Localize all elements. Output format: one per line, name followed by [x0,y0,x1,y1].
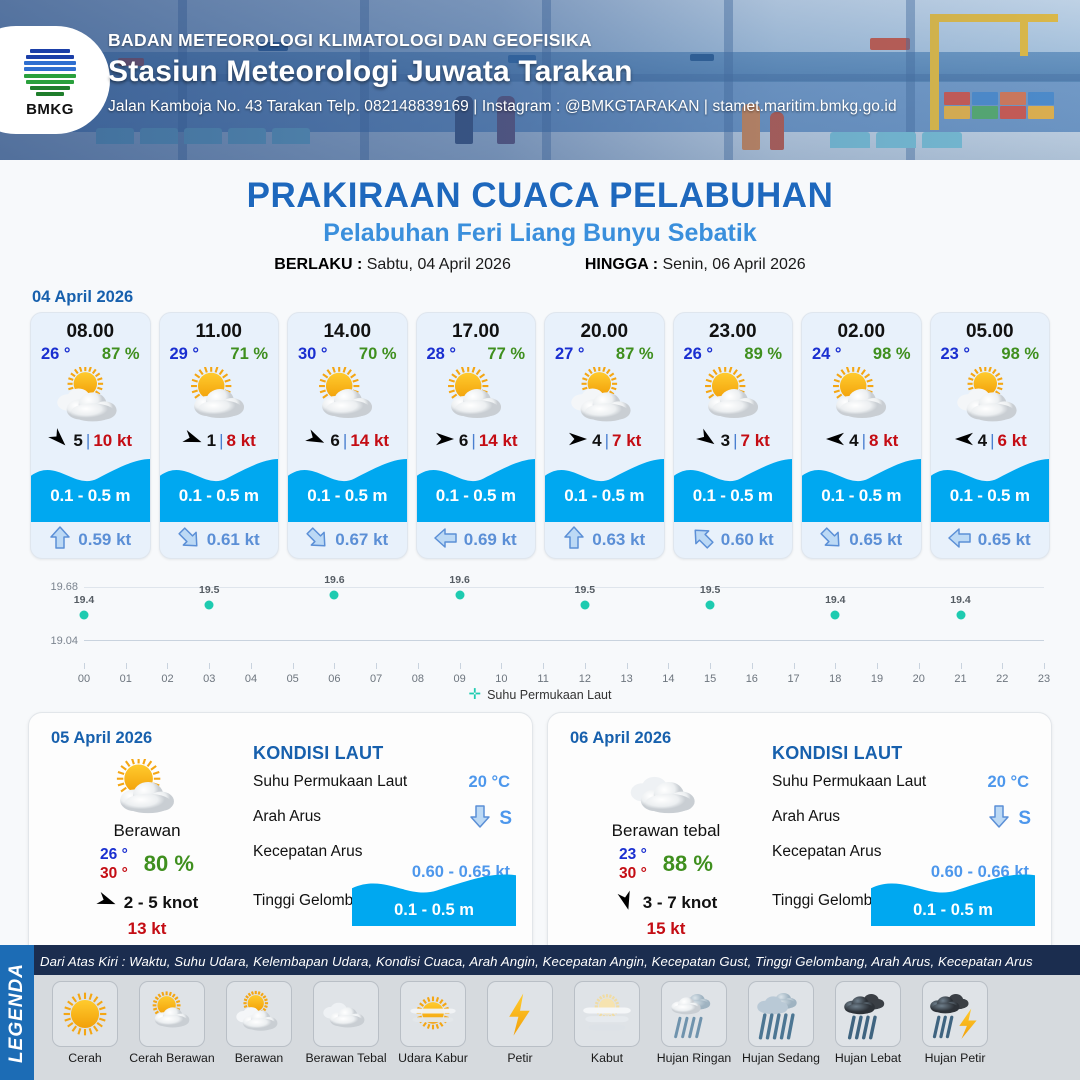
panel-wind: 2 - 5 knot [47,892,247,915]
title-block: PRAKIRAAN CUACA PELABUHAN Pelabuhan Feri… [0,176,1080,274]
chart-x-label: 07 [370,673,382,685]
card-temp-hum: 27 ° 87 % [545,343,664,364]
chart-point [330,591,339,600]
card-temperature: 30 ° [298,345,328,364]
card-current-speed: 0.63 kt [592,530,645,550]
card-wind-degree: 1 [207,431,216,451]
chart-x-tick [668,663,669,669]
chart-point [80,611,89,620]
panel-temp-max: 30 ° [100,864,128,883]
partly-cloudy-icon [545,364,664,426]
card-current-speed: 0.65 kt [849,530,902,550]
card-gust: 14 kt [479,431,518,451]
legend-item: Cerah Berawan [129,981,215,1065]
panel-gust: 13 kt [47,919,247,939]
legend-item-label: Cerah Berawan [129,1051,215,1065]
sun-icon [52,981,118,1047]
panel-current-dir-value-group: S [988,804,1031,833]
panel-wave-value: 0.1 - 0.5 m [352,901,516,920]
card-temperature: 23 ° [941,345,971,364]
legend-item: Hujan Ringan [651,981,737,1065]
card-gust: 10 kt [93,431,132,451]
wind-direction-arrow-icon [953,430,975,453]
valid-from-label: BERLAKU : [274,256,362,273]
chart-x-tick [752,663,753,669]
legend-item-label: Hujan Ringan [651,1051,737,1065]
wind-direction-arrow-icon [305,430,327,453]
card-wave-height: 0.1 - 0.5 m [31,486,150,506]
card-time: 23.00 [674,313,793,343]
card-temperature: 26 ° [684,345,714,364]
chart-x-label: 10 [495,673,507,685]
card-temp-hum: 26 ° 87 % [31,343,150,364]
chart-x-tick [835,663,836,669]
chart-x-tick [460,663,461,669]
card-temp-hum: 30 ° 70 % [288,343,407,364]
panel-wave-row: Tinggi Gelombang 0.1 - 0.5 m [772,892,1035,922]
sun-cloud-icon [674,364,793,426]
sun-cloud-icon [802,364,921,426]
panel-current-dir-row: Arah Arus S [253,808,516,834]
chart-point-label: 19.5 [199,584,219,596]
card-wave-height: 0.1 - 0.5 m [931,486,1050,506]
chart-x-label: 02 [161,673,173,685]
card-wave-graphic: 0.1 - 0.5 m [674,456,793,522]
card-wind: 6 | 14 kt [288,426,407,456]
panel-temps: 26 ° 30 ° 80 % [47,845,247,884]
card-wave-graphic: 0.1 - 0.5 m [545,456,664,522]
haze-icon [400,981,466,1047]
panel-temp-range: 23 ° 30 ° [619,845,647,884]
card-wind: 4 | 8 kt [802,426,921,456]
panel-wave-value: 0.1 - 0.5 m [871,901,1035,920]
chart-x-tick [877,663,878,669]
sun-cloud-icon [417,364,536,426]
panel-condition: Berawan tebal [566,821,766,841]
chart-x-label: 04 [245,673,257,685]
chart-legend-label: Suhu Permukaan Laut [487,688,611,702]
chart-x-label: 11 [537,673,548,685]
organization-name: BADAN METEOROLOGI KLIMATOLOGI DAN GEOFIS… [108,30,897,51]
card-gust: 14 kt [350,431,389,451]
card-wind-degree: 6 [459,431,468,451]
chart-x-label: 23 [1038,673,1050,685]
chart-x-label: 20 [913,673,925,685]
chart-x-tick [84,663,85,669]
legend-item-label: Cerah [42,1051,128,1065]
sst-chart: 19.68 19.04 19.419.519.619.619.519.519.4… [26,573,1054,685]
chart-x-label: 14 [662,673,674,685]
daily-forecast-panel[interactable]: 05 April 2026 Berawan 26 ° 30 ° 80 % 2 - [28,712,533,960]
panel-temp-min: 26 ° [100,845,128,864]
card-humidity: 87 % [102,345,140,364]
chart-x-tick [209,663,210,669]
wind-direction-arrow-icon [96,892,118,915]
card-wave-graphic: 0.1 - 0.5 m [288,456,407,522]
legend-item: Hujan Lebat [825,981,911,1065]
forecast-card[interactable]: 02.00 24 ° 98 % 4 | 8 kt 0.1 - 0.5 m [801,312,922,559]
chart-point-label: 19.5 [575,584,595,596]
panel-wave-chip: 0.1 - 0.5 m [352,872,516,926]
chart-point-label: 19.4 [825,594,845,606]
chart-x-tick [293,663,294,669]
panel-temp-range: 26 ° 30 ° [100,845,128,884]
card-wind-separator: | [990,431,994,451]
chart-x-tick [710,663,711,669]
current-direction-arrow-icon [988,804,1010,833]
card-wind-degree: 6 [330,431,339,451]
card-wave-graphic: 0.1 - 0.5 m [417,456,536,522]
card-humidity: 87 % [616,345,654,364]
panel-sst-row: Suhu Permukaan Laut 20 °C [253,773,516,799]
panel-temp-min: 23 ° [619,845,647,864]
forecast-card[interactable]: 08.00 26 ° 87 % 5 | 10 kt 0.1 - [30,312,151,559]
card-wind-degree: 3 [721,431,730,451]
chart-x-label: 18 [829,673,841,685]
page-title: PRAKIRAAN CUACA PELABUHAN [0,176,1080,216]
card-wave-graphic: 0.1 - 0.5 m [31,456,150,522]
valid-from-value: Sabtu, 04 April 2026 [367,256,511,273]
card-gust: 6 kt [998,431,1027,451]
chart-point [205,601,214,610]
panel-current-speed-label: Kecepatan Arus [253,843,362,860]
panel-date: 06 April 2026 [570,729,671,748]
chart-x-label: 08 [412,673,424,685]
chart-x-tick [251,663,252,669]
card-current-speed: 0.65 kt [978,530,1031,550]
chart-x-label: 05 [287,673,299,685]
legend-item: Hujan Petir [912,981,998,1065]
chart-x-label: 15 [704,673,716,685]
chart-point-label: 19.4 [74,594,94,606]
card-wave-height: 0.1 - 0.5 m [545,486,664,506]
card-current-speed: 0.69 kt [464,530,517,550]
card-current: 0.60 kt [674,522,793,558]
panel-temps: 23 ° 30 ° 88 % [566,845,766,884]
card-temp-hum: 23 ° 98 % [931,343,1050,364]
card-gust: 8 kt [227,431,256,451]
card-time: 11.00 [160,313,279,343]
chart-x-label: 17 [787,673,799,685]
valid-until-label: HINGGA : [585,256,658,273]
legend-icon-strip: Cerah Cerah Berawan Berawan [34,975,1080,1080]
card-wind-degree: 5 [73,431,82,451]
chart-point-label: 19.6 [449,574,469,586]
card-time: 08.00 [31,313,150,343]
card-wind-degree: 4 [592,431,601,451]
cloud-icon [313,981,379,1047]
legend-side-label: LEGENDA [6,963,28,1063]
legend-item-label: Petir [477,1051,563,1065]
chart-x-tick [418,663,419,669]
wind-direction-arrow-icon [615,892,637,915]
card-time: 17.00 [417,313,536,343]
panel-sea-conditions: KONDISI LAUT Suhu Permukaan Laut 20 °C A… [253,743,516,922]
legend-item: Berawan [216,981,302,1065]
sun-cloud-icon [139,981,205,1047]
wind-direction-arrow-icon [48,430,70,453]
card-wind-separator: | [471,431,475,451]
thunderstorm-icon [922,981,988,1047]
card-wind: 4 | 6 kt [931,426,1050,456]
panel-condition: Berawan [47,821,247,841]
chart-x-label: 06 [328,673,340,685]
bmkg-logo-text: BMKG [26,101,74,118]
panel-temp-max: 30 ° [619,864,647,883]
panel-humidity: 80 % [144,851,194,877]
card-temp-hum: 28 ° 77 % [417,343,536,364]
chart-x-tick [961,663,962,669]
card-temperature: 24 ° [812,345,842,364]
current-direction-arrow-icon [178,526,200,555]
card-wind-separator: | [733,431,737,451]
card-wave-height: 0.1 - 0.5 m [674,486,793,506]
forecast-card[interactable]: 20.00 27 ° 87 % 4 | 7 kt 0.1 - [544,312,665,559]
wind-direction-arrow-icon [434,430,456,453]
chart-x-label: 12 [579,673,591,685]
card-wind-degree: 4 [978,431,987,451]
chart-x-label: 13 [620,673,632,685]
card-wave-height: 0.1 - 0.5 m [802,486,921,506]
legend-item: Udara Kabur [390,981,476,1065]
card-time: 02.00 [802,313,921,343]
chart-x-tick [585,663,586,669]
header-banner: BMKG BADAN METEOROLOGI KLIMATOLOGI DAN G… [0,0,1080,160]
chart-point-label: 19.4 [950,594,970,606]
card-gust: 7 kt [741,431,770,451]
bmkg-logo: BMKG [0,26,110,134]
chart-point [831,611,840,620]
panel-sst-value: 20 °C [469,773,510,792]
card-temp-hum: 24 ° 98 % [802,343,921,364]
legend-item-label: Berawan Tebal [303,1051,389,1065]
panel-wind-value: 3 - 7 knot [643,893,718,913]
forecast-card[interactable]: 17.00 28 ° 77 % 6 | 14 kt 0.1 - 0.5 m [416,312,537,559]
card-temperature: 26 ° [41,345,71,364]
chart-legend-marker-icon: ✛ [469,687,482,702]
card-wind-separator: | [862,431,866,451]
card-temperature: 27 ° [555,345,585,364]
current-direction-arrow-icon [949,526,971,555]
card-wave-graphic: 0.1 - 0.5 m [160,456,279,522]
validity-row: BERLAKU : Sabtu, 04 April 2026 HINGGA : … [0,256,1080,274]
card-time: 14.00 [288,313,407,343]
card-current-speed: 0.59 kt [78,530,131,550]
wind-direction-arrow-icon [696,430,718,453]
card-wind: 6 | 14 kt [417,426,536,456]
card-wind-separator: | [219,431,223,451]
panel-current-dir-value: S [499,808,512,830]
card-time: 20.00 [545,313,664,343]
card-wind: 4 | 7 kt [545,426,664,456]
current-direction-arrow-icon [820,526,842,555]
card-temperature: 28 ° [427,345,457,364]
contact-address: Jalan Kamboja No. 43 Tarakan Telp. 08214… [108,98,897,116]
chart-x-label: 19 [871,673,883,685]
card-wave-height: 0.1 - 0.5 m [288,486,407,506]
partly-cloudy-icon [226,981,292,1047]
legend-section: LEGENDA Dari Atas Kiri : Waktu, Suhu Uda… [0,945,1080,1080]
legend-item-label: Hujan Lebat [825,1051,911,1065]
chart-x-tick [501,663,502,669]
panel-sst-label: Suhu Permukaan Laut [772,773,926,790]
panel-wind-value: 2 - 5 knot [124,893,199,913]
panel-sea-conditions: KONDISI LAUT Suhu Permukaan Laut 20 °C A… [772,743,1035,922]
chart-x-tick [919,663,920,669]
card-wave-height: 0.1 - 0.5 m [160,486,279,506]
legend-side-tab: LEGENDA [0,945,34,1080]
card-wave-height: 0.1 - 0.5 m [417,486,536,506]
panel-left: Berawan tebal 23 ° 30 ° 88 % 3 - 7 knot … [566,757,766,939]
card-humidity: 98 % [873,345,911,364]
panel-sst-row: Suhu Permukaan Laut 20 °C [772,773,1035,799]
sun-cloud-icon [47,757,247,819]
card-wind: 3 | 7 kt [674,426,793,456]
station-name: Stasiun Meteorologi Juwata Tarakan [108,55,897,89]
partly-cloudy-icon [931,364,1050,426]
heavy-rain-icon [835,981,901,1047]
chart-x-label: 16 [746,673,758,685]
panel-current-dir-label: Arah Arus [772,808,840,825]
card-current: 0.67 kt [288,522,407,558]
card-gust: 8 kt [869,431,898,451]
current-direction-arrow-icon [692,526,714,555]
card-wave-graphic: 0.1 - 0.5 m [802,456,921,522]
chart-x-label: 03 [203,673,215,685]
legend-item-label: Hujan Petir [912,1051,998,1065]
card-time: 05.00 [931,313,1050,343]
chart-point-label: 19.6 [324,574,344,586]
panel-wind: 3 - 7 knot [566,892,766,915]
panel-current-speed-label: Kecepatan Arus [772,843,881,860]
daily-panel-row: 05 April 2026 Berawan 26 ° 30 ° 80 % 2 - [0,702,1080,960]
lightning-icon [487,981,553,1047]
chart-point [706,601,715,610]
panel-current-dir-row: Arah Arus S [772,808,1035,834]
page-subtitle: Pelabuhan Feri Liang Bunyu Sebatik [0,219,1080,248]
card-temperature: 29 ° [170,345,200,364]
card-temp-hum: 29 ° 71 % [160,343,279,364]
legend-item: Berawan Tebal [303,981,389,1065]
chart-x-tick [376,663,377,669]
chart-x-tick [334,663,335,669]
card-current: 0.65 kt [931,522,1050,558]
daily-forecast-panel[interactable]: 06 April 2026 Berawan tebal 23 ° 30 ° 88… [547,712,1052,960]
legend-item-label: Berawan [216,1051,302,1065]
panel-wave-row: Tinggi Gelombang 0.1 - 0.5 m [253,892,516,922]
partly-cloudy-icon [31,364,150,426]
chart-x-label: 21 [954,673,966,685]
card-wind: 5 | 10 kt [31,426,150,456]
card-humidity: 70 % [359,345,397,364]
chart-x-label: 00 [78,673,90,685]
card-humidity: 77 % [487,345,525,364]
card-wind-separator: | [86,431,90,451]
chart-point-label: 19.5 [700,584,720,596]
panel-sst-label: Suhu Permukaan Laut [253,773,407,790]
forecast-poster: BMKG BADAN METEOROLOGI KLIMATOLOGI DAN G… [0,0,1080,1080]
chart-point [455,591,464,600]
wind-direction-arrow-icon [182,430,204,453]
fog-icon [574,981,640,1047]
wind-direction-arrow-icon [567,430,589,453]
card-current-speed: 0.60 kt [721,530,774,550]
chart-x-label: 22 [996,673,1008,685]
card-temp-hum: 26 ° 89 % [674,343,793,364]
current-direction-arrow-icon [435,526,457,555]
legend-item-label: Udara Kabur [390,1051,476,1065]
moderate-rain-icon [748,981,814,1047]
panel-gust: 15 kt [566,919,766,939]
card-current: 0.63 kt [545,522,664,558]
card-current-speed: 0.61 kt [207,530,260,550]
legend-note: Dari Atas Kiri : Waktu, Suhu Udara, Kele… [40,954,1074,969]
current-direction-arrow-icon [49,526,71,555]
card-current: 0.59 kt [31,522,150,558]
forecast-day-label: 04 April 2026 [32,288,1080,307]
panel-section-title: KONDISI LAUT [253,743,516,764]
card-wind-separator: | [605,431,609,451]
chart-x-label: 01 [120,673,132,685]
legend-item-label: Kabut [564,1051,650,1065]
banner-text-block: BADAN METEOROLOGI KLIMATOLOGI DAN GEOFIS… [108,30,897,116]
current-direction-arrow-icon [306,526,328,555]
chart-ytick-bottom: 19.04 [26,635,78,647]
legend-item: Cerah [42,981,128,1065]
chart-x-tick [794,663,795,669]
panel-current-dir-value: S [1018,808,1031,830]
panel-current-dir-label: Arah Arus [253,808,321,825]
legend-item: Hujan Sedang [738,981,824,1065]
chart-x-tick [126,663,127,669]
light-rain-icon [661,981,727,1047]
current-direction-arrow-icon [469,804,491,833]
forecast-card-row: 08.00 26 ° 87 % 5 | 10 kt 0.1 - [0,312,1080,559]
forecast-card[interactable]: 11.00 29 ° 71 % 1 | 8 kt 0.1 - 0.5 m [159,312,280,559]
card-wind: 1 | 8 kt [160,426,279,456]
cloud-icon [566,757,766,819]
legend-item-label: Hujan Sedang [738,1051,824,1065]
valid-until: HINGGA : Senin, 06 April 2026 [585,256,806,274]
valid-until-value: Senin, 06 April 2026 [662,256,805,273]
bmkg-logo-mark [22,43,78,99]
chart-point [580,601,589,610]
panel-sst-value: 20 °C [988,773,1029,792]
card-gust: 7 kt [612,431,641,451]
panel-humidity: 88 % [663,851,713,877]
forecast-card[interactable]: 23.00 26 ° 89 % 3 | 7 kt 0.1 - 0.5 m [673,312,794,559]
panel-date: 05 April 2026 [51,729,152,748]
card-current: 0.69 kt [417,522,536,558]
chart-x-tick [167,663,168,669]
sun-cloud-icon [160,364,279,426]
chart-x-axis [84,640,1044,641]
chart-point [956,611,965,620]
chart-x-tick [1002,663,1003,669]
current-direction-arrow-icon [563,526,585,555]
card-current: 0.61 kt [160,522,279,558]
chart-legend: ✛ Suhu Permukaan Laut [0,687,1080,702]
panel-section-title: KONDISI LAUT [772,743,1035,764]
forecast-card[interactable]: 05.00 23 ° 98 % 4 | 6 kt 0.1 - [930,312,1051,559]
forecast-card[interactable]: 14.00 30 ° 70 % 6 | 14 kt 0.1 - 0.5 m [287,312,408,559]
panel-wave-chip: 0.1 - 0.5 m [871,872,1035,926]
sun-cloud-icon [288,364,407,426]
chart-ytick-top: 19.68 [26,581,78,593]
legend-item: Kabut [564,981,650,1065]
chart-x-label: 09 [454,673,466,685]
wind-direction-arrow-icon [824,430,846,453]
